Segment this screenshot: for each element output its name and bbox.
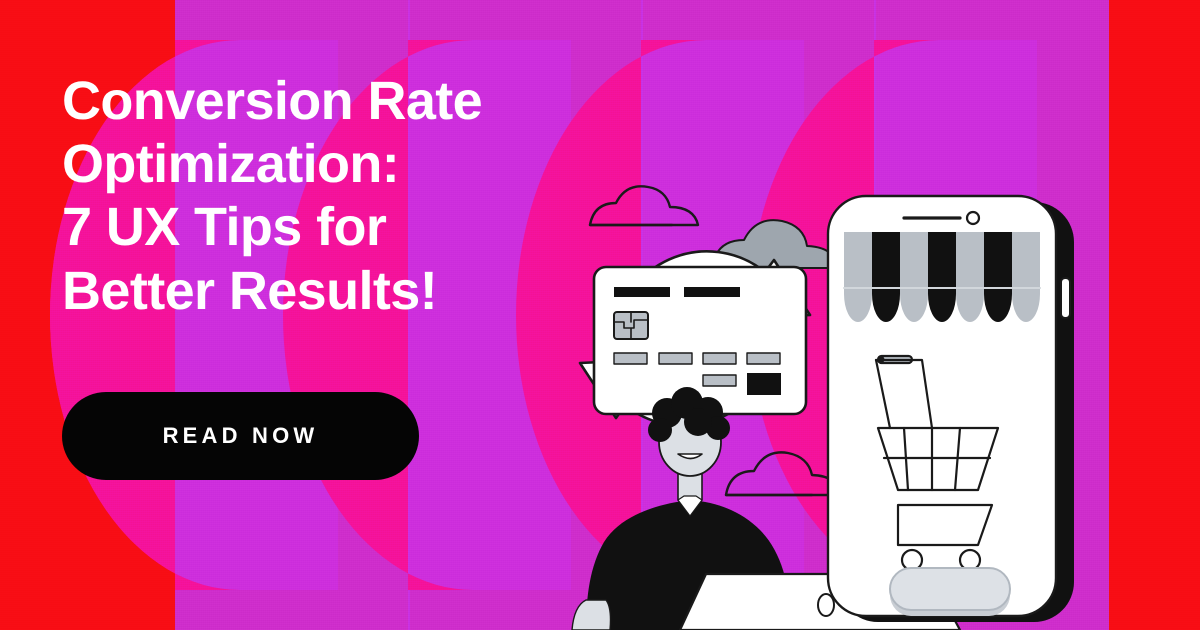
cloud-outline-right-icon <box>726 452 841 495</box>
ecommerce-illustration <box>560 160 1200 630</box>
page-title: Conversion Rate Optimization: 7 UX Tips … <box>62 70 622 323</box>
credit-card-icon <box>594 267 806 414</box>
illustration-svg <box>560 160 1200 630</box>
buy-button-pill[interactable] <box>890 568 1010 616</box>
smartphone-storefront <box>828 196 1074 622</box>
headline-block: Conversion Rate Optimization: 7 UX Tips … <box>62 70 622 323</box>
read-now-button[interactable]: READ NOW <box>62 392 419 480</box>
blog-promo-banner: Conversion Rate Optimization: 7 UX Tips … <box>0 0 1200 630</box>
